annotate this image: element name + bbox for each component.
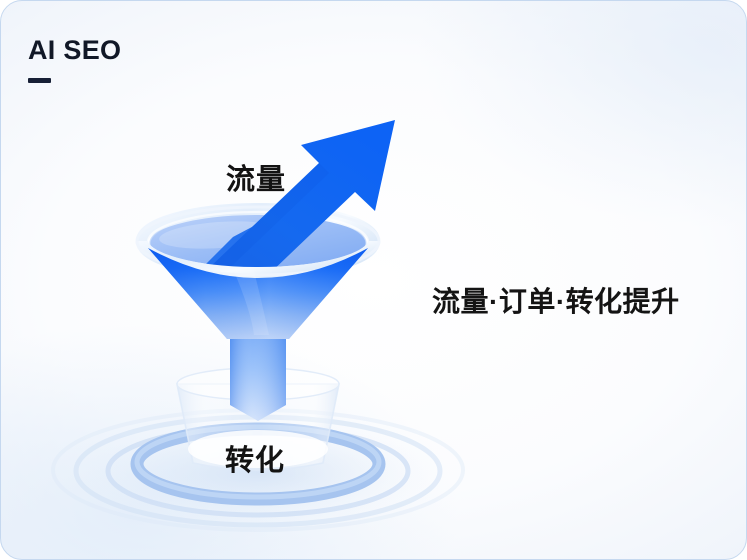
- funnel-label-conversion: 转化: [225, 437, 285, 479]
- funnel-stem: [230, 331, 286, 421]
- page-title: AI SEO: [28, 37, 121, 64]
- title-block: AI SEO: [28, 37, 121, 83]
- funnel-label-traffic: 流量: [226, 156, 286, 198]
- title-underline-rule: [28, 78, 51, 83]
- slide-canvas: AI SEO 流量 转化 流量·订单·转化提升: [0, 0, 747, 560]
- tagline-text: 流量·订单·转化提升: [432, 280, 680, 320]
